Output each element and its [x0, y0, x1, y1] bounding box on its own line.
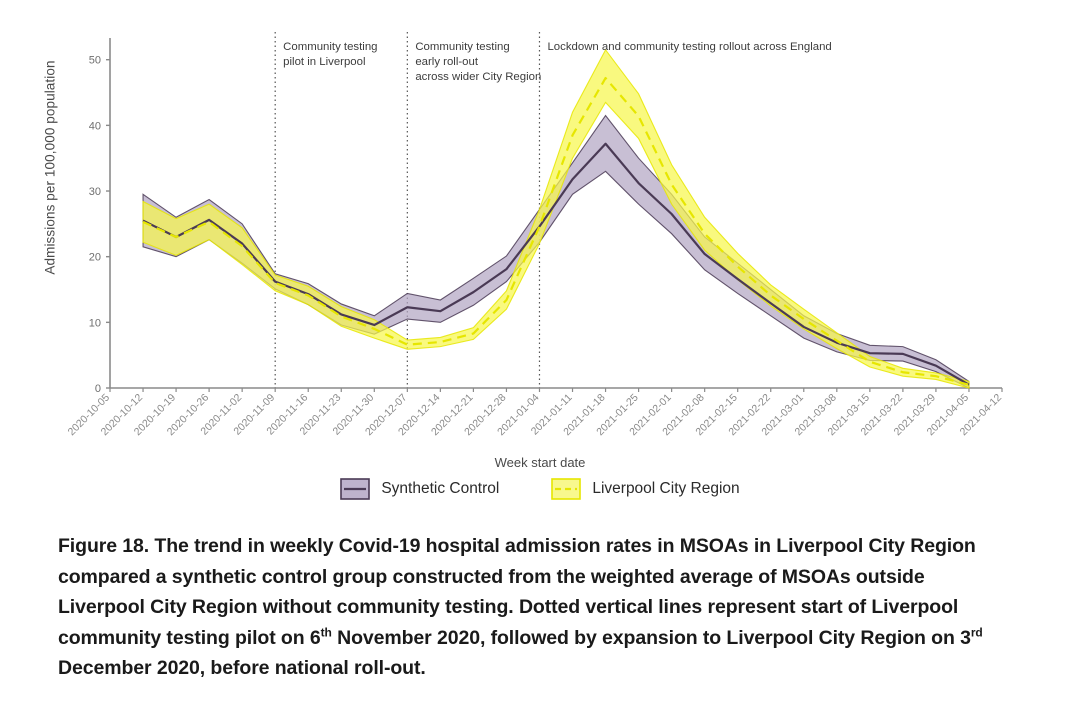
- legend-swatch-liverpool-city-region: [551, 478, 581, 500]
- figure-caption: Figure 18. The trend in weekly Covid-19 …: [58, 531, 1010, 684]
- x-axis-title: Week start date: [0, 455, 1080, 470]
- legend-label-liverpool-city-region: Liverpool City Region: [592, 480, 739, 498]
- caption-sup-rd: rd: [971, 625, 983, 639]
- chart-plot-area: 010203040502020-10-052020-10-122020-10-1…: [0, 0, 1080, 520]
- legend-swatch-synthetic-control: [340, 478, 370, 500]
- chart-legend: Synthetic Control Liverpool City Region: [0, 478, 1080, 500]
- figure-18: 010203040502020-10-052020-10-122020-10-1…: [0, 0, 1080, 711]
- caption-part-2: November 2020, followed by expansion to …: [332, 627, 971, 649]
- y-axis-title: Admissions per 100,000 population: [43, 28, 58, 308]
- caption-part-3: December 2020, before national roll-out.: [58, 657, 426, 679]
- svg-text:30: 30: [89, 186, 101, 198]
- legend-item-liverpool-city-region[interactable]: Liverpool City Region: [551, 478, 739, 500]
- svg-text:40: 40: [89, 120, 101, 132]
- caption-sup-th: th: [321, 625, 332, 639]
- svg-text:50: 50: [89, 55, 101, 67]
- svg-text:20: 20: [89, 252, 101, 264]
- legend-item-synthetic-control[interactable]: Synthetic Control: [340, 478, 499, 500]
- legend-label-synthetic-control: Synthetic Control: [381, 480, 499, 498]
- svg-text:0: 0: [95, 383, 101, 395]
- annotation-community-testing-early-rollout: Community testing early roll-out across …: [415, 40, 541, 85]
- svg-text:10: 10: [89, 317, 101, 329]
- annotation-lockdown-rollout-england: Lockdown and community testing rollout a…: [547, 40, 831, 55]
- annotation-community-testing-pilot: Community testing pilot in Liverpool: [283, 40, 377, 70]
